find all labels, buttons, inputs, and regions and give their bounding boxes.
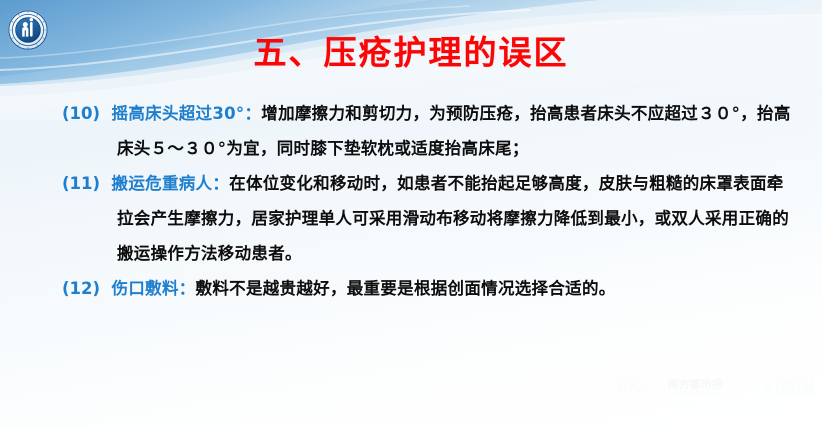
nd-brand-mark: ND. xyxy=(614,378,654,399)
n-video-label: N视频 xyxy=(763,379,814,397)
newspaper-brand-pinyin: NANFANG DAILY xyxy=(670,391,720,397)
n-video-logo: N视频 xyxy=(737,377,814,399)
list-item-number: (11) xyxy=(62,174,100,193)
newspaper-brand-cn: 南方都市报 xyxy=(668,379,723,391)
newspaper-brand-badge: 南方都市报 NANFANG DAILY xyxy=(665,378,726,398)
list-item-number: (10) xyxy=(62,104,100,123)
list-item: (11) 搬运危重病人：在体位变化和移动时，如患者不能抬起足够高度，皮肤与粗糙的… xyxy=(0,166,822,271)
list-item: (12) 伤口敷料：敷料不是越贵越好，最重要是根据创面情况选择合适的。 xyxy=(0,271,822,306)
list-item-lead: 摇高床头超过30°： xyxy=(112,104,262,123)
list-item-number: (12) xyxy=(62,279,100,298)
watermark: ND. 南方都市报 NANFANG DAILY N视频 xyxy=(614,377,814,399)
list-item-body: 敷料不是越贵越好，最重要是根据创面情况选择合适的。 xyxy=(196,279,616,298)
page-title: 五、压疮护理的误区 xyxy=(0,26,822,74)
play-icon xyxy=(737,377,759,399)
list-item: (10) 摇高床头超过30°：增加摩擦力和剪切力，为预防压疮，抬高患者床头不应超… xyxy=(0,96,822,166)
list-item-lead: 搬运危重病人： xyxy=(112,174,230,193)
list-item-lead: 伤口敷料： xyxy=(112,279,196,298)
slide-canvas: 五、压疮护理的误区 (10) 摇高床头超过30°：增加摩擦力和剪切力，为预防压疮… xyxy=(0,0,822,427)
content-body: (10) 摇高床头超过30°：增加摩擦力和剪切力，为预防压疮，抬高患者床头不应超… xyxy=(0,96,822,306)
